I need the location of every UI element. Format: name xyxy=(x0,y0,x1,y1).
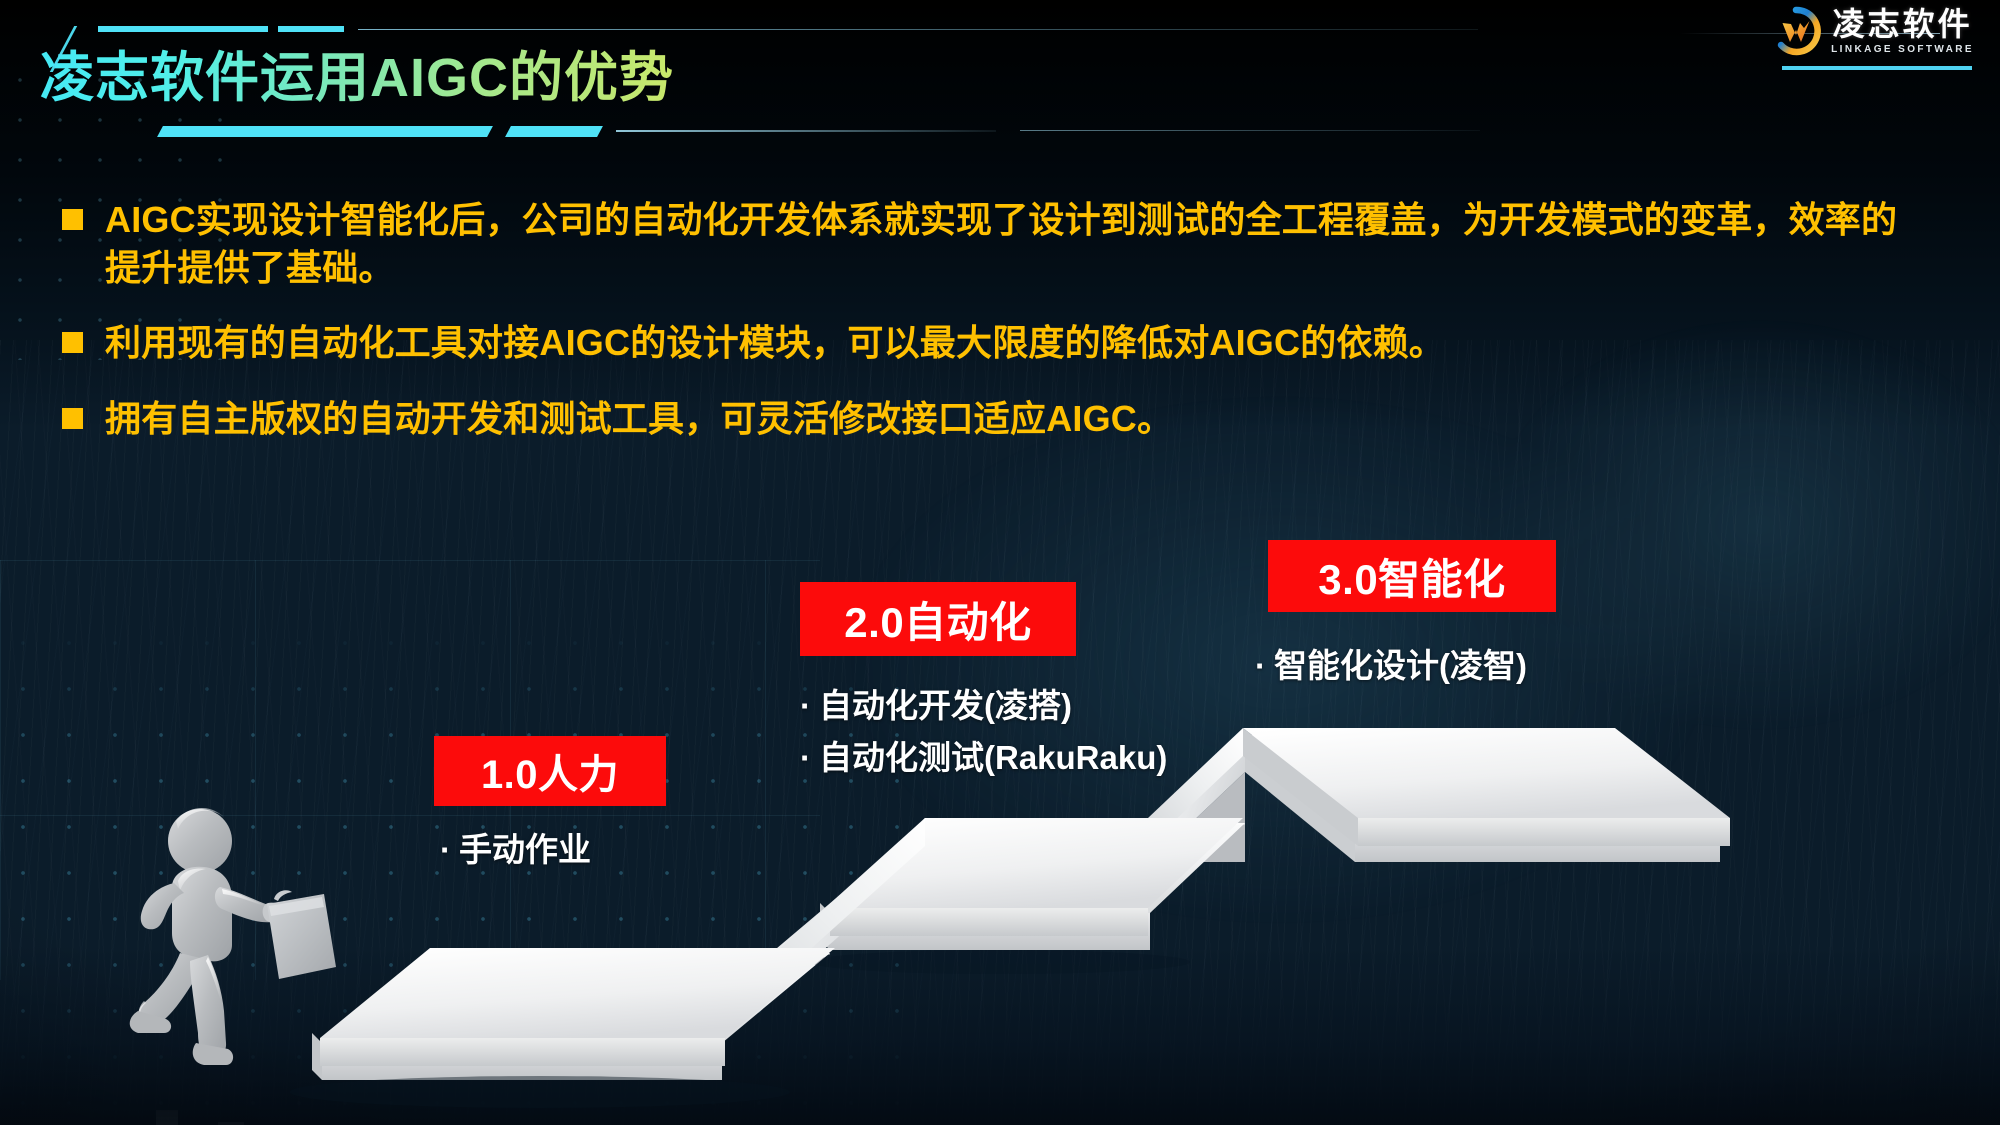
bullet-item-1: AIGC实现设计智能化后，公司的自动化开发体系就实现了设计到测试的全工程覆盖，为… xyxy=(62,196,1942,291)
item-text: 自动化测试(RakuRaku) xyxy=(819,739,1167,776)
item-text: 手动作业 xyxy=(459,831,591,868)
title-underline-line-1 xyxy=(616,130,996,132)
stage-item: ·手动作业 xyxy=(440,824,591,876)
title-underline-line-2 xyxy=(1020,130,1480,131)
logo-chinese-name: 凌志软件 xyxy=(1833,8,1973,40)
bullet-text: AIGC实现设计智能化后，公司的自动化开发体系就实现了设计到测试的全工程覆盖，为… xyxy=(105,196,1915,291)
briefcase-icon xyxy=(267,890,336,979)
linkage-swoosh-icon xyxy=(1771,6,1821,56)
stage-3-items: ·智能化设计(凌智) xyxy=(1255,640,1527,692)
item-text: 自动化开发(凌搭) xyxy=(819,687,1072,724)
stage-item: ·自动化测试(RakuRaku) xyxy=(800,732,1167,784)
title-underline-bar-1 xyxy=(157,126,493,137)
item-dot: · xyxy=(1255,647,1266,684)
bullet-square-icon xyxy=(62,408,83,429)
bullet-square-icon xyxy=(62,332,83,353)
bullet-item-3: 拥有自主版权的自动开发和测试工具，可灵活修改接口适应AIGC。 xyxy=(62,395,1942,443)
stage-label-1[interactable]: 1.0人力 xyxy=(434,736,666,806)
stage-1-items: ·手动作业 xyxy=(440,824,591,876)
item-text: 智能化设计(凌智) xyxy=(1274,647,1527,684)
item-dot: · xyxy=(440,831,451,868)
item-dot: · xyxy=(800,687,811,724)
walking-person-with-briefcase-icon xyxy=(128,795,458,1125)
title-top-bar-2 xyxy=(278,26,344,32)
title-top-bar-1 xyxy=(98,26,268,32)
bullet-list: AIGC实现设计智能化后，公司的自动化开发体系就实现了设计到测试的全工程覆盖，为… xyxy=(62,196,1942,470)
logo-english-name: LINKAGE SOFTWARE xyxy=(1831,45,1974,55)
stage-label-2[interactable]: 2.0自动化 xyxy=(800,582,1076,656)
stage-2-items: ·自动化开发(凌搭) ·自动化测试(RakuRaku) xyxy=(800,680,1167,784)
item-dot: · xyxy=(800,739,811,776)
slide-title-block: 凌志软件运用AIGC的优势 xyxy=(40,48,674,108)
title-top-hairline xyxy=(358,29,1478,30)
logo-underline-bar xyxy=(1782,66,1972,70)
stage-item: ·智能化设计(凌智) xyxy=(1255,640,1527,692)
bullet-square-icon xyxy=(62,209,83,230)
bullet-text: 利用现有的自动化工具对接AIGC的设计模块，可以最大限度的降低对AIGC的依赖。 xyxy=(105,319,1445,367)
stage-label-3[interactable]: 3.0智能化 xyxy=(1268,540,1556,612)
bullet-item-2: 利用现有的自动化工具对接AIGC的设计模块，可以最大限度的降低对AIGC的依赖。 xyxy=(62,319,1942,367)
bullet-text: 拥有自主版权的自动开发和测试工具，可灵活修改接口适应AIGC。 xyxy=(105,395,1173,443)
title-underline-bar-2 xyxy=(505,126,603,137)
stage-item: ·自动化开发(凌搭) xyxy=(800,680,1167,732)
page-title: 凌志软件运用AIGC的优势 xyxy=(40,48,674,108)
company-logo: 凌志软件 LINKAGE SOFTWARE xyxy=(1771,6,1974,56)
slide-canvas: 凌志软件 LINKAGE SOFTWARE 凌志软件运用AIGC的优势 AIGC… xyxy=(0,0,2000,1125)
